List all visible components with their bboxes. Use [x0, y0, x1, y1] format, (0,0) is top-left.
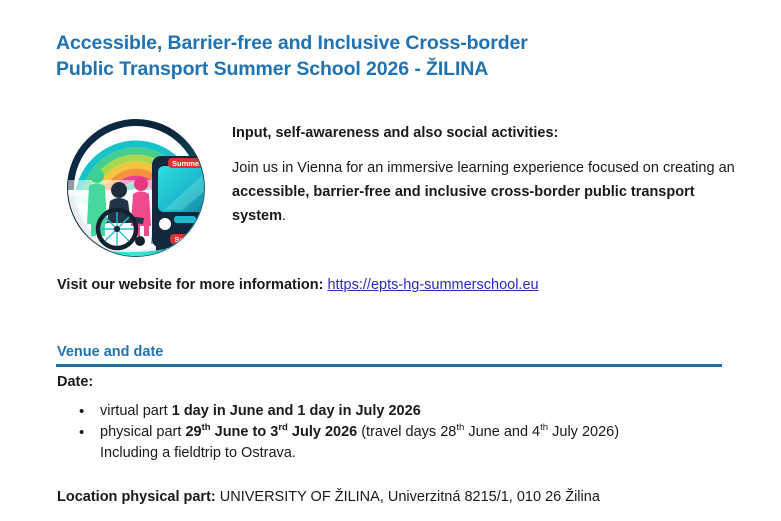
- list-item: virtual part 1 day in June and 1 day in …: [72, 401, 732, 422]
- bus: Summer School: [152, 156, 208, 253]
- intro-body-part2: .: [282, 208, 286, 224]
- bullet-2-travel-open: (travel days 28: [357, 424, 456, 440]
- bullet-2-bold-mid: June to: [211, 424, 271, 440]
- title-line-2: Public Transport Summer School 2026 - ŽI…: [56, 56, 736, 82]
- website-label: Visit our website for more information:: [57, 277, 327, 293]
- location-line: Location physical part: UNIVERSITY OF ŽI…: [57, 487, 600, 508]
- venue-heading-rule: [56, 364, 722, 367]
- bullet-2-travel-close: July 2026): [548, 424, 619, 440]
- bullet-1-prefix: virtual part: [100, 403, 172, 419]
- intro-body: Join us in Vienna for an immersive learn…: [232, 156, 752, 228]
- bus-sign-top-text: Summer: [172, 159, 202, 168]
- logo-illustration: Summer School: [64, 116, 208, 260]
- bullet-2-second-line: Including a fieldtrip to Ostrava.: [100, 445, 296, 461]
- location-value: UNIVERSITY OF ŽILINA, Univerzitná 8215/1…: [216, 489, 600, 505]
- bullet-2-travel-mid: June and 4: [464, 424, 540, 440]
- bullet-2-prefix: physical part: [100, 424, 185, 440]
- bullet-2-travel-sup2: th: [540, 422, 548, 433]
- title-line-1: Accessible, Barrier-free and Inclusive C…: [56, 30, 736, 56]
- flyer-page: Accessible, Barrier-free and Inclusive C…: [0, 0, 781, 521]
- venue-and-date-heading: Venue and date: [57, 343, 163, 362]
- page-title: Accessible, Barrier-free and Inclusive C…: [56, 30, 736, 82]
- bullet-2-sup-rd: rd: [278, 422, 288, 433]
- bullet-2-sup-th: th: [202, 422, 211, 433]
- intro-body-part1: Join us in Vienna for an immersive learn…: [232, 160, 735, 176]
- summer-school-logo: Summer School: [64, 116, 208, 260]
- intro-block: Input, self-awareness and also social ac…: [232, 123, 752, 228]
- intro-body-bold: accessible, barrier-free and inclusive c…: [232, 184, 695, 224]
- bullet-2-bold-29: 29: [185, 424, 201, 440]
- intro-heading: Input, self-awareness and also social ac…: [232, 123, 752, 143]
- date-label: Date:: [57, 372, 93, 393]
- website-link[interactable]: https://epts-hg-summerschool.eu: [327, 277, 538, 293]
- date-bullet-list: virtual part 1 day in June and 1 day in …: [72, 401, 732, 464]
- website-line: Visit our website for more information: …: [57, 275, 539, 296]
- location-label: Location physical part:: [57, 489, 216, 505]
- list-item: physical part 29th June to 3rd July 2026…: [72, 422, 732, 464]
- bus-sign-bottom-text: School: [174, 235, 199, 244]
- bullet-2-bold-end: July 2026: [288, 424, 357, 440]
- bullet-1-bold: 1 day in June and 1 day in July 2026: [172, 403, 421, 419]
